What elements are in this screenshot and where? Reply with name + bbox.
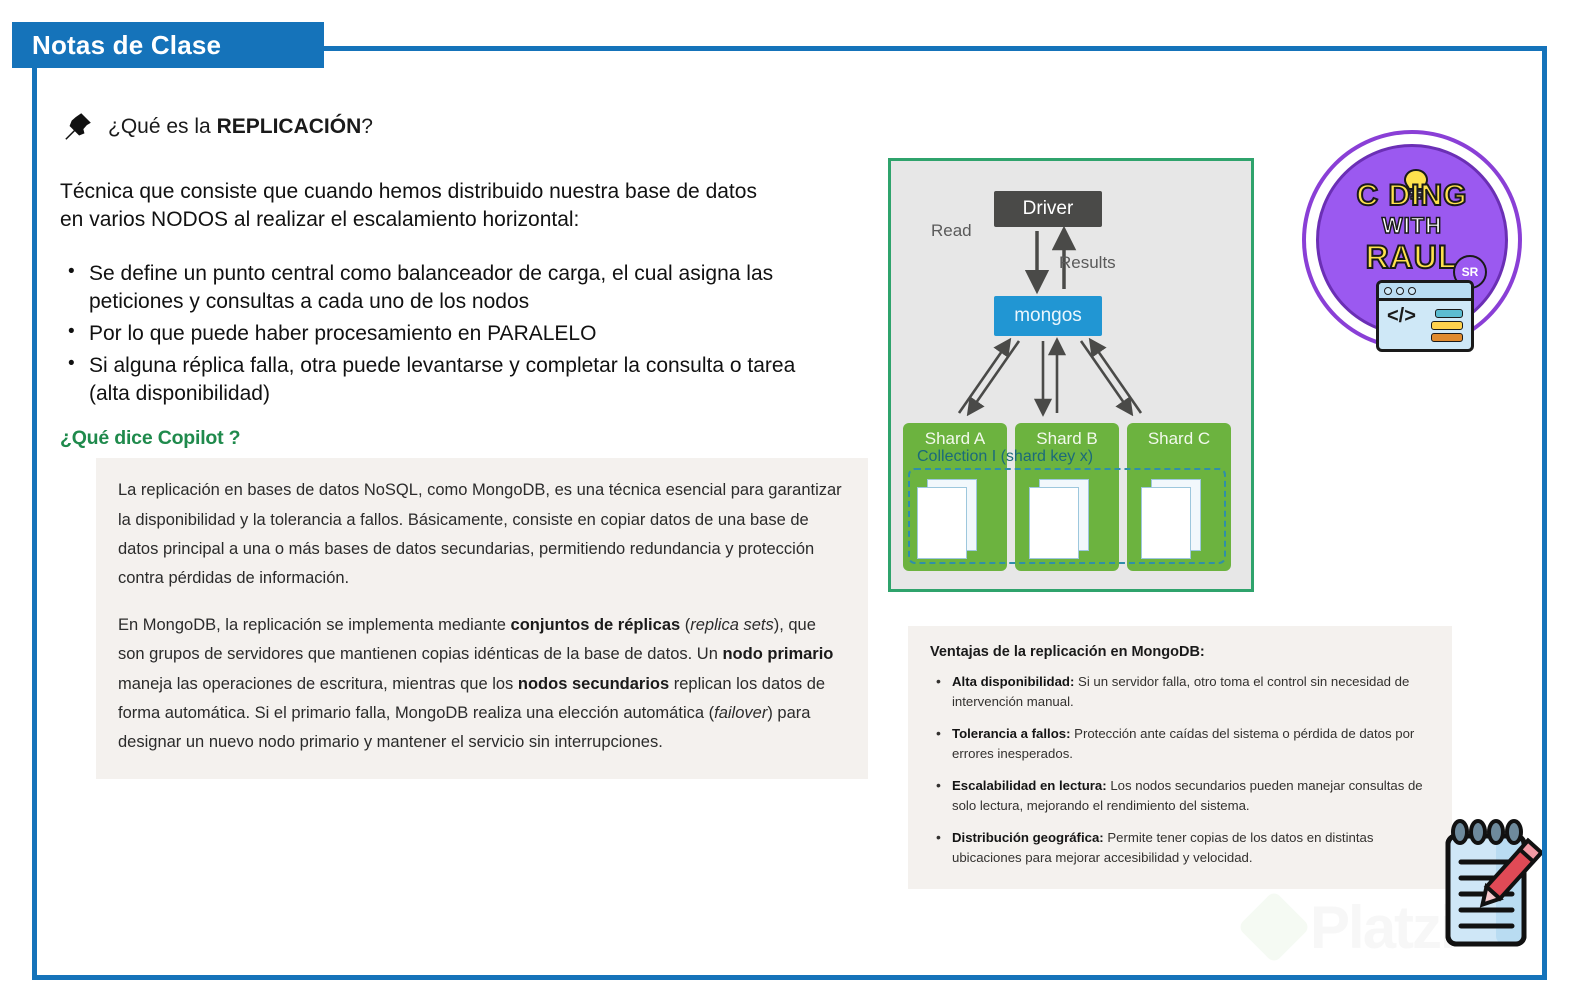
cp2-i2: failover — [714, 704, 767, 722]
window-dot — [1384, 287, 1392, 295]
shard-a-documents — [917, 479, 979, 557]
window-titlebar — [1379, 283, 1471, 301]
read-arrow-label: Read — [931, 221, 972, 241]
shard-label: Shard A — [903, 429, 1007, 449]
list-item: Se define un punto central como balancea… — [60, 260, 834, 316]
pushpin-icon — [60, 110, 94, 144]
intro-paragraph: Técnica que consiste que cuando hemos di… — [60, 178, 780, 234]
window-dot — [1396, 287, 1404, 295]
shard-label: Shard C — [1127, 429, 1231, 449]
window-dot — [1408, 287, 1416, 295]
notes-content-column: ¿Qué es la REPLICACIÓN? Técnica que cons… — [60, 110, 880, 779]
heading-bold: REPLICACIÓN — [217, 115, 362, 138]
heading-prefix: ¿Qué es la — [108, 115, 217, 138]
logo-ring: C DING WITH RAUL SR </> — [1316, 144, 1508, 336]
cp2-b3: nodos secundarios — [518, 675, 669, 693]
copilot-paragraph-1: La replicación en bases de datos NoSQL, … — [118, 476, 846, 593]
notepad-pencil-icon — [1434, 818, 1542, 958]
advantages-panel: Ventajas de la replicación en MongoDB: A… — [908, 626, 1452, 889]
copilot-paragraph-2: En MongoDB, la replicación se implementa… — [118, 611, 846, 757]
page-title: Notas de Clase — [32, 30, 221, 61]
section-heading: ¿Qué es la REPLICACIÓN? — [60, 110, 880, 144]
driver-node: Driver — [994, 191, 1102, 227]
cp2-s1: En MongoDB, la replicación se implementa… — [118, 616, 511, 634]
advantage-term: Escalabilidad en lectura: — [952, 778, 1107, 793]
mongos-node: mongos — [994, 296, 1102, 336]
advantages-title: Ventajas de la replicación en MongoDB: — [930, 644, 1428, 660]
mongodb-sharding-diagram: Driver Read Results mongos Shard A Shard… — [888, 158, 1254, 592]
logo-line-coding: C DING — [1319, 179, 1505, 213]
cp2-b2: nodo primario — [722, 645, 833, 663]
cp2-s4: maneja las operaciones de escritura, mie… — [118, 675, 518, 693]
document-icon — [1141, 487, 1191, 559]
coding-with-raul-logo: C DING WITH RAUL SR </> — [1306, 134, 1518, 346]
platzi-wordmark: Platzi — [1310, 893, 1455, 962]
logo-line-with: WITH — [1319, 213, 1505, 239]
advantage-term: Distribución geográfica: — [952, 830, 1104, 845]
list-item: Alta disponibilidad: Si un servidor fall… — [930, 672, 1428, 713]
list-item: Distribución geográfica: Permite tener c… — [930, 828, 1428, 869]
shard-b-documents — [1029, 479, 1091, 557]
code-brackets-glyph: </> — [1387, 305, 1416, 328]
copilot-answer-box: La replicación en bases de datos NoSQL, … — [96, 458, 868, 779]
list-item: Por lo que puede haber procesamiento en … — [60, 320, 834, 348]
platzi-diamond-icon — [1237, 890, 1311, 964]
section-heading-text: ¿Qué es la REPLICACIÓN? — [108, 115, 373, 139]
advantage-term: Tolerancia a fallos: — [952, 726, 1070, 741]
advantages-list: Alta disponibilidad: Si un servidor fall… — [930, 672, 1428, 869]
cp2-b1: conjuntos de réplicas — [511, 616, 681, 634]
list-item: Tolerancia a fallos: Protección ante caí… — [930, 724, 1428, 765]
slide-title-tab: Notas de Clase — [12, 22, 324, 68]
code-line — [1435, 309, 1463, 318]
platzi-watermark: Platzi — [1248, 890, 1455, 964]
advantage-term: Alta disponibilidad: — [952, 674, 1074, 689]
heading-suffix: ? — [361, 115, 373, 138]
shard-label: Shard B — [1015, 429, 1119, 449]
key-points-list: Se define un punto central como balancea… — [60, 260, 880, 408]
code-window-icon: </> — [1376, 280, 1474, 352]
document-icon — [917, 487, 967, 559]
code-line — [1431, 321, 1463, 330]
shard-c-documents — [1141, 479, 1203, 557]
document-icon — [1029, 487, 1079, 559]
cp2-s2: ( — [680, 616, 690, 634]
copilot-section-title: ¿Qué dice Copilot ? — [60, 427, 880, 450]
collection-shardkey-label: Collection I (shard key x) — [917, 448, 1093, 466]
list-item: Si alguna réplica falla, otra puede leva… — [60, 352, 834, 408]
cp2-i1: replica sets — [690, 616, 773, 634]
list-item: Escalabilidad en lectura: Los nodos secu… — [930, 776, 1428, 817]
code-line — [1431, 333, 1463, 342]
results-arrow-label: Results — [1059, 253, 1116, 273]
